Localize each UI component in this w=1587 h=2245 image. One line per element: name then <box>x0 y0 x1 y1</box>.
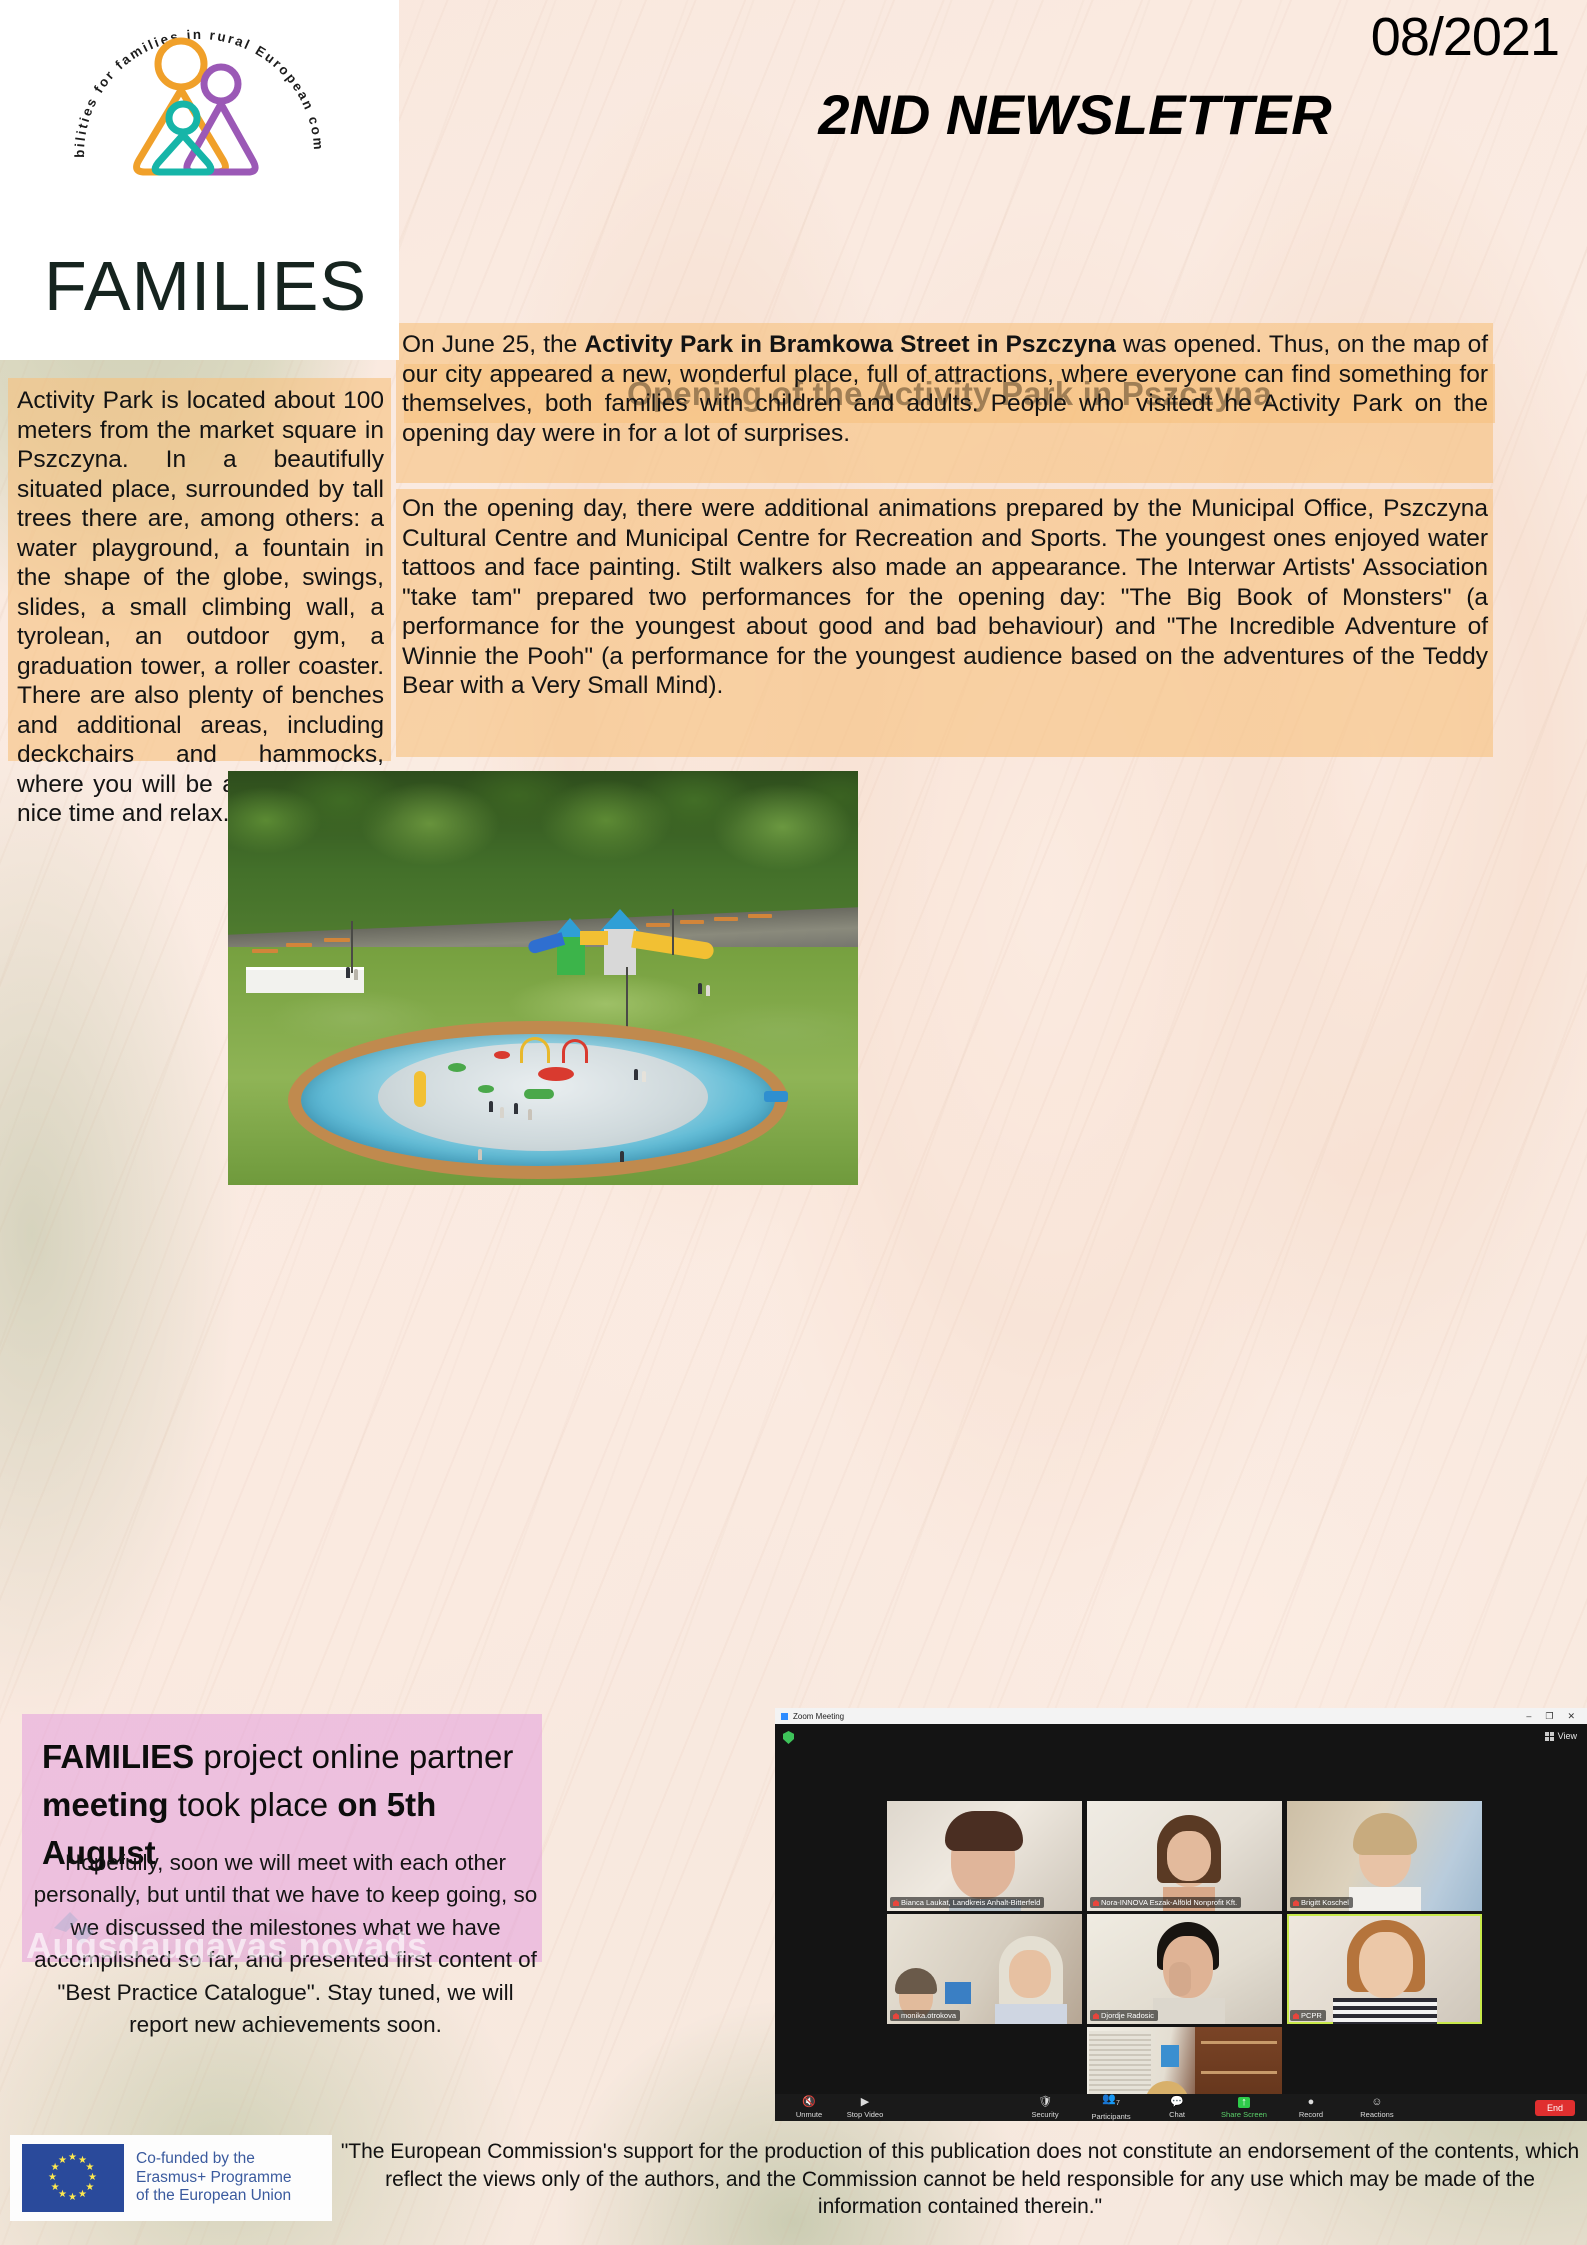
playground-tower <box>604 929 636 975</box>
zoom-security-button[interactable]: 🛡 Security <box>1023 2094 1067 2120</box>
zoom-toolbar: 🔇 Unmute ▶ Stop Video 🛡 Security 👥7 Part… <box>775 2094 1587 2121</box>
water-feature <box>524 1089 554 1099</box>
article-paragraph1: On June 25, the Activity Park in Bramkow… <box>402 330 1488 448</box>
park-bench <box>646 923 670 927</box>
chat-bubble-icon: 💬 <box>1170 2097 1184 2108</box>
p1-pre: On June 25, the <box>402 331 584 358</box>
water-arch <box>520 1037 550 1063</box>
zoom-security-label: Security <box>1032 2110 1059 2119</box>
logo-wordmark: FAMILIES <box>44 246 354 326</box>
minimize-icon[interactable]: – <box>1526 1711 1531 1722</box>
park-visitor <box>706 985 710 996</box>
participant-name: Bianca Laukat, Landkreis Anhalt-Bitterfe… <box>890 1897 1044 1908</box>
zoom-share-screen-button[interactable]: ↑ Share Screen <box>1221 2094 1267 2120</box>
zoom-unmute-button[interactable]: 🔇 Unmute <box>787 2097 831 2119</box>
park-visitor <box>489 1101 493 1112</box>
zoom-record-button[interactable]: ● Record <box>1289 2094 1333 2120</box>
zoom-title-bar: Zoom Meeting – ❐ ✕ <box>775 1708 1587 1724</box>
zoom-view-button[interactable]: View <box>1545 1731 1577 1741</box>
participant-name: Djordje Radosic <box>1090 2010 1158 2021</box>
eu-funding-caption: Co-funded by the Erasmus+ Programme of t… <box>136 2150 291 2207</box>
participant-face <box>1359 1932 1413 1998</box>
eu-star-icon: ★ <box>68 2153 77 2163</box>
zoom-participant-tile-active[interactable]: PCPR <box>1287 1914 1482 2024</box>
participant-name: Nora-INNOVA Eszak-Alföld Nonprofit Kft. <box>1090 1897 1241 1908</box>
zoom-window-title: Zoom Meeting <box>793 1712 844 1721</box>
zoom-stop-video-button[interactable]: ▶ Stop Video <box>843 2097 887 2119</box>
zoom-participants-button[interactable]: 👥7 Participants <box>1089 2094 1133 2120</box>
article-paragraph2: On the opening day, there were additiona… <box>402 494 1488 701</box>
meeting-title-part4: took place <box>169 1786 338 1823</box>
park-bench <box>252 949 278 953</box>
meeting-title-part3: meeting <box>42 1786 169 1823</box>
participant-hand <box>1169 1962 1191 1996</box>
zoom-window-controls: – ❐ ✕ <box>1526 1711 1581 1722</box>
park-lamp <box>626 967 628 1027</box>
participants-count: 7 <box>1116 2101 1120 2108</box>
park-bench <box>714 917 738 921</box>
participant-clothing <box>1349 1887 1421 1911</box>
zoom-participant-tile[interactable]: Bianca Laukat, Landkreis Anhalt-Bitterfe… <box>887 1801 1082 1911</box>
park-visitor <box>354 969 358 980</box>
participant-face-front <box>1009 1950 1051 1998</box>
water-jet <box>448 1063 466 1072</box>
zoom-participant-tile[interactable]: monika.otrokova <box>887 1914 1082 2024</box>
zoom-end-button[interactable]: End <box>1535 2100 1575 2116</box>
park-bench <box>680 920 704 924</box>
grid-view-icon <box>1545 1732 1554 1741</box>
park-lamp <box>672 909 674 955</box>
park-visitor <box>620 1151 624 1162</box>
zoom-record-label: Record <box>1299 2110 1323 2119</box>
zoom-chat-button[interactable]: 💬 Chat <box>1155 2094 1199 2120</box>
park-visitor <box>500 1107 504 1118</box>
share-screen-icon: ↑ <box>1238 2097 1250 2108</box>
zoom-reactions-button[interactable]: ☺ Reactions <box>1355 2094 1399 2120</box>
eu-caption-line1: Co-funded by the <box>136 2150 291 2169</box>
eu-flag-icon: ★★★★★★★★★★★★ <box>22 2144 124 2212</box>
participant-clothing-striped <box>1333 1998 1437 2024</box>
park-photo <box>228 771 858 1185</box>
eu-star-icon: ★ <box>68 2193 77 2203</box>
zoom-share-screen-label: Share Screen <box>1221 2110 1267 2119</box>
zoom-participant-tile[interactable]: Djordje Radosic <box>1087 1914 1282 2024</box>
logo-ring-text-svg: future abilities for families in rural E… <box>44 6 354 256</box>
zoom-participant-tile[interactable]: Brigitt Koschel <box>1287 1801 1482 1911</box>
participant-hair <box>1353 1813 1417 1855</box>
zoom-chat-label: Chat <box>1169 2110 1185 2119</box>
eu-star-icon: ★ <box>78 2190 87 2200</box>
eu-caption-line2: Erasmus+ Programme <box>136 2169 291 2188</box>
zoom-stop-video-label: Stop Video <box>847 2110 884 2119</box>
zoom-video-stage: View Bianca Laukat, Landkreis Anhalt-Bit… <box>775 1724 1587 2094</box>
zoom-unmute-label: Unmute <box>796 2110 822 2119</box>
zoom-toolbar-center: 🛡 Security 👥7 Participants 💬 Chat ↑ Shar… <box>1023 2094 1399 2120</box>
zoom-reactions-label: Reactions <box>1360 2110 1393 2119</box>
water-feature <box>414 1071 426 1107</box>
park-visitor <box>346 967 350 978</box>
bookshelf-shelf <box>1201 2071 1277 2074</box>
meeting-title-part2: project online partner <box>194 1738 513 1775</box>
playground-tube <box>580 931 608 945</box>
eu-disclaimer: "The European Commission's support for t… <box>340 2138 1580 2221</box>
bookshelf-shelf <box>1201 2041 1277 2044</box>
park-lounger <box>764 1091 788 1102</box>
zoom-app-icon <box>781 1713 788 1720</box>
record-circle-icon: ● <box>1308 2097 1315 2108</box>
logo-panel: future abilities for families in rural E… <box>0 0 399 360</box>
participant-name: Brigitt Koschel <box>1290 1897 1353 1908</box>
watermark-logo-icon <box>52 1906 114 1948</box>
eu-star-icon: ★ <box>51 2183 60 2193</box>
participant-name: PCPR <box>1290 2010 1326 2021</box>
zoom-toolbar-right: End <box>1535 2100 1575 2116</box>
zoom-participant-tile[interactable]: Nora-INNOVA Eszak-Alföld Nonprofit Kft. <box>1087 1801 1282 1911</box>
zoom-view-label: View <box>1558 1731 1577 1741</box>
park-visitor <box>634 1069 638 1080</box>
maximize-icon[interactable]: ❐ <box>1545 1711 1553 1722</box>
participant-clothing <box>995 2004 1067 2024</box>
participant-hair <box>895 1968 937 1994</box>
park-bench <box>324 938 350 942</box>
people-icon: 👥7 <box>1102 2094 1120 2109</box>
water-jet <box>538 1067 574 1081</box>
water-jet <box>478 1085 494 1093</box>
park-visitor <box>478 1149 482 1160</box>
park-bench <box>748 914 772 918</box>
eu-caption-line3: of the European Union <box>136 2187 291 2206</box>
participant-hair <box>945 1811 1023 1851</box>
zoom-meeting-screenshot: Zoom Meeting – ❐ ✕ View Bianca Laukat, L… <box>775 1708 1587 2121</box>
eu-funding-badge: ★★★★★★★★★★★★ Co-funded by the Erasmus+ P… <box>10 2135 332 2221</box>
shield-icon: 🛡 <box>1038 2097 1052 2108</box>
zoom-toolbar-left: 🔇 Unmute ▶ Stop Video <box>787 2097 887 2119</box>
water-jet <box>494 1051 510 1059</box>
participant-desk-object <box>945 1982 971 2004</box>
park-visitor <box>642 1071 646 1082</box>
park-lamp <box>351 921 353 973</box>
water-arch <box>562 1039 588 1063</box>
issue-date: 08/2021 <box>1371 6 1559 68</box>
close-icon[interactable]: ✕ <box>1567 1711 1575 1722</box>
sidebar-text: Activity Park is located about 100 meter… <box>17 386 384 829</box>
wall-poster <box>1161 2045 1179 2067</box>
meeting-title-part1: FAMILIES <box>42 1738 194 1775</box>
smiley-reaction-icon: ☺ <box>1371 2097 1382 2108</box>
participant-face-front <box>1167 1831 1211 1881</box>
zoom-encryption-shield-icon <box>783 1731 794 1744</box>
eu-star-icon: ★ <box>58 2156 67 2166</box>
participant-clothing <box>1153 1998 1225 2024</box>
page-title: 2ND NEWSLETTER <box>590 82 1560 147</box>
park-bench <box>286 943 312 947</box>
microphone-muted-icon: 🔇 <box>802 2097 816 2108</box>
zoom-participants-label: Participants <box>1091 2112 1130 2121</box>
park-visitor <box>528 1109 532 1120</box>
eu-star-icon: ★ <box>48 2173 57 2183</box>
p1-bold: Activity Park in Bramkowa Street in Pszc… <box>584 331 1116 358</box>
park-visitor <box>514 1103 518 1114</box>
video-camera-icon: ▶ <box>861 2097 869 2108</box>
families-logo: future abilities for families in rural E… <box>44 6 354 256</box>
park-visitor <box>698 983 702 994</box>
participant-name: monika.otrokova <box>890 2010 960 2021</box>
